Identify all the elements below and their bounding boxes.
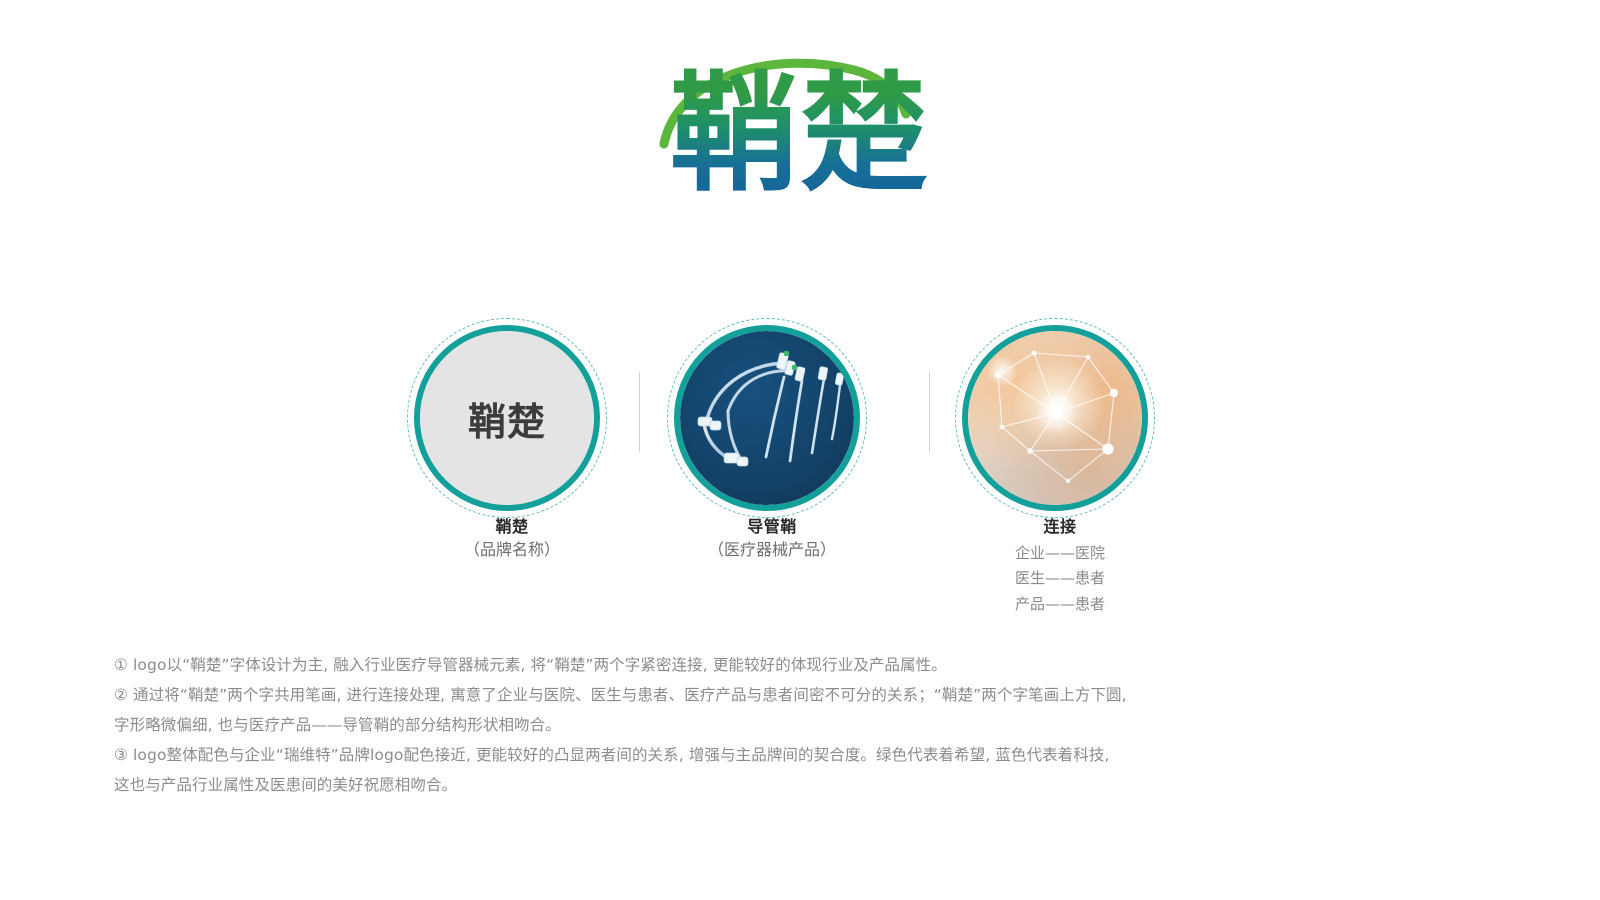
caption-title: 导管鞘 — [622, 515, 922, 538]
caption-title: 鞘楚 — [362, 515, 662, 538]
brand-name-circle-label: 鞘楚 — [420, 331, 594, 505]
logo-wrap: 鞘楚 — [650, 48, 950, 248]
solid-teal-ring — [962, 325, 1148, 511]
concept-circles-row: 鞘楚 — [0, 318, 1600, 528]
caption-subtitle: （品牌名称） — [362, 538, 662, 562]
caption-title: 连接 — [910, 515, 1210, 538]
divider-1 — [639, 372, 640, 452]
catheter-sheath-photo-circle — [680, 331, 854, 505]
description-line: 这也与产品行业属性及医患间的美好祝愿相吻合。 — [114, 770, 1494, 800]
caption-subtitle: （医疗器械产品） — [622, 538, 922, 562]
description-line: 字形略微偏细, 也与医疗产品——导管鞘的部分结构形状相吻合。 — [114, 710, 1494, 740]
description-line: ① logo以“鞘楚”字体设计为主, 融入行业医疗导管器械元素, 将“鞘楚”两个… — [114, 650, 1494, 680]
connection-pairs-list: 企业——医院 医生——患者 产品——患者 — [910, 541, 1210, 617]
network-connection-illustration-icon — [968, 331, 1142, 505]
list-item: 企业——医院 — [910, 541, 1210, 566]
connection-network-photo-circle — [968, 331, 1142, 505]
caption-connection: 连接 企业——医院 医生——患者 产品——患者 — [910, 515, 1210, 617]
concept-circle-connection — [955, 318, 1165, 518]
caption-catheter-sheath: 导管鞘 （医疗器械产品） — [622, 515, 922, 562]
solid-teal-ring — [674, 325, 860, 511]
description-line: ② 通过将“鞘楚”两个字共用笔画, 进行连接处理, 寓意了企业与医院、医生与患者… — [114, 680, 1494, 710]
caption-brand-name: 鞘楚 （品牌名称） — [362, 515, 662, 562]
concept-circle-catheter-sheath — [667, 318, 877, 518]
brand-name-circle: 鞘楚 — [420, 331, 594, 505]
logo-wordmark: 鞘楚 — [650, 66, 950, 204]
logo-lockup: 鞘楚 — [0, 48, 1600, 258]
description-line: ③ logo整体配色与企业“瑞维特”品牌logo配色接近, 更能较好的凸显两者间… — [114, 740, 1494, 770]
list-item: 医生——患者 — [910, 566, 1210, 591]
solid-teal-ring: 鞘楚 — [414, 325, 600, 511]
concept-circle-brand-name: 鞘楚 — [407, 318, 617, 518]
catheter-sheath-illustration-icon — [680, 331, 854, 505]
brand-logo-presentation-page: 鞘楚 鞘楚 — [0, 0, 1600, 900]
description-block: ① logo以“鞘楚”字体设计为主, 融入行业医疗导管器械元素, 将“鞘楚”两个… — [114, 650, 1494, 800]
divider-2 — [929, 372, 930, 452]
list-item: 产品——患者 — [910, 592, 1210, 617]
